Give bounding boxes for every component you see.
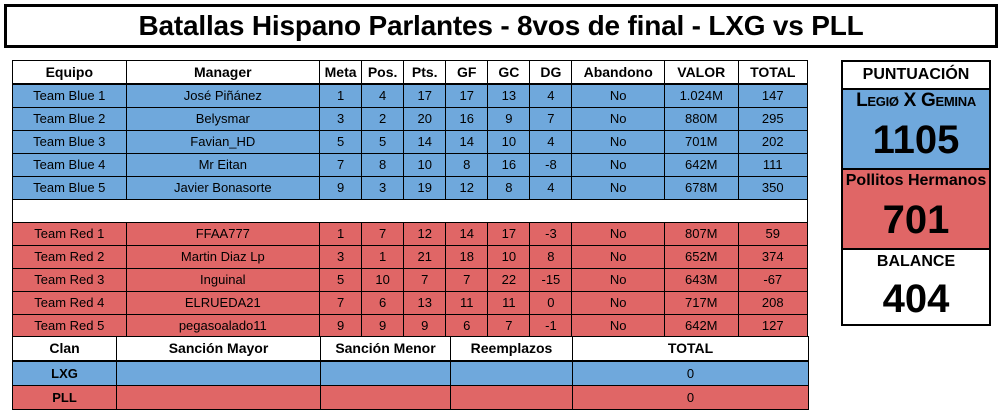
cell-meta: 1: [320, 223, 362, 246]
column-header-abandono: Abandono: [572, 61, 665, 85]
table-row: Team Blue 5 Javier Bonasorte 9 3 19 12 8…: [13, 177, 808, 200]
cell-gc: 8: [488, 177, 530, 200]
column-header-meta: Meta: [320, 61, 362, 85]
table-row: Team Blue 4 Mr Eitan 7 8 10 8 16 -8 No 6…: [13, 154, 808, 177]
column-header-pos: Pos.: [362, 61, 404, 85]
sanctions-grid: Clan Sanción Mayor Sanción Menor Reempla…: [12, 336, 809, 410]
cell-meta: 7: [320, 154, 362, 177]
clan-name-red: Pollitos Hermanos: [843, 170, 989, 192]
cell-abandono: No: [572, 177, 665, 200]
cell-pos: 7: [362, 223, 404, 246]
column-header-sancion-menor: Sanción Menor: [321, 337, 451, 362]
table-row: Team Red 1 FFAA777 1 7 12 14 17 -3 No 80…: [13, 223, 808, 246]
clan-score-red: 701: [843, 192, 989, 248]
cell-gf: 6: [446, 315, 488, 338]
cell-gf: 16: [446, 108, 488, 131]
cell-gf: 17: [446, 84, 488, 108]
cell-abandono: No: [572, 154, 665, 177]
sanctions-header-row: Clan Sanción Mayor Sanción Menor Reempla…: [13, 337, 809, 362]
cell-total: 0: [573, 361, 809, 386]
cell-total: 0: [573, 386, 809, 410]
score-block-blue: Legiø X Gemina 1105: [843, 90, 989, 170]
cell-total: 374: [738, 246, 807, 269]
team-section-separator: [13, 200, 808, 223]
cell-pts: 17: [404, 84, 446, 108]
score-block-balance: BALANCE 404: [843, 250, 989, 324]
cell-pos: 9: [362, 315, 404, 338]
cell-manager: pegasoalado11: [126, 315, 319, 338]
cell-gf: 7: [446, 269, 488, 292]
cell-pts: 10: [404, 154, 446, 177]
cell-valor: 643M: [664, 269, 738, 292]
cell-pts: 13: [404, 292, 446, 315]
cell-dg: 0: [530, 292, 572, 315]
cell-total: 208: [738, 292, 807, 315]
stats-grid: Equipo Manager Meta Pos. Pts. GF GC DG A…: [12, 60, 808, 338]
cell-total: 295: [738, 108, 807, 131]
cell-meta: 1: [320, 84, 362, 108]
cell-equipo: Team Red 5: [13, 315, 127, 338]
cell-dg: -8: [530, 154, 572, 177]
column-header-valor: VALOR: [664, 61, 738, 85]
cell-meta: 9: [320, 177, 362, 200]
cell-pos: 2: [362, 108, 404, 131]
clan-name-blue: Legiø X Gemina: [843, 90, 989, 112]
page-title: Batallas Hispano Parlantes - 8vos de fin…: [139, 10, 864, 42]
score-panel: PUNTUACIÓN Legiø X Gemina 1105 Pollitos …: [841, 60, 991, 326]
cell-sancion-menor: [321, 361, 451, 386]
cell-equipo: Team Blue 3: [13, 131, 127, 154]
column-header-clan: Clan: [13, 337, 117, 362]
cell-pos: 3: [362, 177, 404, 200]
cell-manager: Belysmar: [126, 108, 319, 131]
column-header-total: TOTAL: [738, 61, 807, 85]
cell-reemplazos: [451, 361, 573, 386]
cell-pos: 8: [362, 154, 404, 177]
clan-score-blue: 1105: [843, 112, 989, 168]
cell-meta: 3: [320, 246, 362, 269]
cell-sancion-mayor: [117, 361, 321, 386]
cell-gc: 16: [488, 154, 530, 177]
cell-gf: 12: [446, 177, 488, 200]
cell-equipo: Team Blue 1: [13, 84, 127, 108]
stats-header-row: Equipo Manager Meta Pos. Pts. GF GC DG A…: [13, 61, 808, 85]
cell-total: -67: [738, 269, 807, 292]
score-panel-heading: PUNTUACIÓN: [843, 62, 989, 90]
cell-total: 127: [738, 315, 807, 338]
cell-pts: 9: [404, 315, 446, 338]
cell-manager: FFAA777: [126, 223, 319, 246]
cell-gc: 11: [488, 292, 530, 315]
cell-equipo: Team Red 1: [13, 223, 127, 246]
cell-pts: 20: [404, 108, 446, 131]
cell-equipo: Team Red 4: [13, 292, 127, 315]
cell-total: 111: [738, 154, 807, 177]
cell-dg: -15: [530, 269, 572, 292]
cell-meta: 5: [320, 131, 362, 154]
cell-total: 59: [738, 223, 807, 246]
cell-equipo: Team Red 2: [13, 246, 127, 269]
cell-equipo: Team Blue 4: [13, 154, 127, 177]
column-header-sancion-mayor: Sanción Mayor: [117, 337, 321, 362]
cell-abandono: No: [572, 246, 665, 269]
cell-pos: 6: [362, 292, 404, 315]
cell-gc: 10: [488, 131, 530, 154]
cell-gc: 10: [488, 246, 530, 269]
cell-gf: 18: [446, 246, 488, 269]
title-bar: Batallas Hispano Parlantes - 8vos de fin…: [4, 4, 998, 48]
cell-pos: 5: [362, 131, 404, 154]
cell-valor: 701M: [664, 131, 738, 154]
cell-dg: 4: [530, 177, 572, 200]
cell-valor: 880M: [664, 108, 738, 131]
cell-abandono: No: [572, 292, 665, 315]
cell-total: 147: [738, 84, 807, 108]
cell-pos: 1: [362, 246, 404, 269]
column-header-reemplazos: Reemplazos: [451, 337, 573, 362]
cell-valor: 717M: [664, 292, 738, 315]
cell-gc: 17: [488, 223, 530, 246]
table-row: Team Red 2 Martin Diaz Lp 3 1 21 18 10 8…: [13, 246, 808, 269]
table-row: Team Red 4 ELRUEDA21 7 6 13 11 11 0 No 7…: [13, 292, 808, 315]
cell-pts: 7: [404, 269, 446, 292]
cell-manager: Javier Bonasorte: [126, 177, 319, 200]
cell-abandono: No: [572, 223, 665, 246]
table-row: Team Blue 1 José Piñánez 1 4 17 17 13 4 …: [13, 84, 808, 108]
cell-reemplazos: [451, 386, 573, 410]
cell-abandono: No: [572, 131, 665, 154]
cell-manager: Inguinal: [126, 269, 319, 292]
table-row: Team Blue 3 Favian_HD 5 5 14 14 10 4 No …: [13, 131, 808, 154]
cell-sancion-mayor: [117, 386, 321, 410]
balance-value: 404: [843, 274, 989, 324]
cell-pos: 10: [362, 269, 404, 292]
cell-sancion-menor: [321, 386, 451, 410]
cell-dg: 8: [530, 246, 572, 269]
cell-equipo: Team Blue 2: [13, 108, 127, 131]
score-block-red: Pollitos Hermanos 701: [843, 170, 989, 250]
table-row: Team Blue 2 Belysmar 3 2 20 16 9 7 No 88…: [13, 108, 808, 131]
column-header-gf: GF: [446, 61, 488, 85]
cell-dg: 7: [530, 108, 572, 131]
cell-manager: ELRUEDA21: [126, 292, 319, 315]
column-header-dg: DG: [530, 61, 572, 85]
cell-dg: 4: [530, 84, 572, 108]
table-row: PLL 0: [13, 386, 809, 410]
cell-total: 350: [738, 177, 807, 200]
cell-gf: 14: [446, 223, 488, 246]
column-header-pts: Pts.: [404, 61, 446, 85]
cell-valor: 807M: [664, 223, 738, 246]
cell-meta: 3: [320, 108, 362, 131]
cell-valor: 642M: [664, 154, 738, 177]
cell-clan: PLL: [13, 386, 117, 410]
balance-label: BALANCE: [843, 250, 989, 274]
cell-dg: -1: [530, 315, 572, 338]
cell-abandono: No: [572, 108, 665, 131]
cell-gf: 11: [446, 292, 488, 315]
cell-abandono: No: [572, 269, 665, 292]
sanctions-table: Clan Sanción Mayor Sanción Menor Reempla…: [12, 336, 808, 410]
cell-clan: LXG: [13, 361, 117, 386]
cell-gf: 8: [446, 154, 488, 177]
cell-total: 202: [738, 131, 807, 154]
cell-pos: 4: [362, 84, 404, 108]
cell-pts: 21: [404, 246, 446, 269]
column-header-manager: Manager: [126, 61, 319, 85]
cell-valor: 1.024M: [664, 84, 738, 108]
cell-equipo: Team Red 3: [13, 269, 127, 292]
cell-manager: Mr Eitan: [126, 154, 319, 177]
cell-abandono: No: [572, 84, 665, 108]
column-header-total: TOTAL: [573, 337, 809, 362]
cell-dg: 4: [530, 131, 572, 154]
cell-gc: 22: [488, 269, 530, 292]
column-header-gc: GC: [488, 61, 530, 85]
cell-gc: 7: [488, 315, 530, 338]
cell-valor: 678M: [664, 177, 738, 200]
cell-meta: 9: [320, 315, 362, 338]
cell-valor: 652M: [664, 246, 738, 269]
cell-meta: 5: [320, 269, 362, 292]
cell-meta: 7: [320, 292, 362, 315]
cell-manager: José Piñánez: [126, 84, 319, 108]
cell-abandono: No: [572, 315, 665, 338]
cell-dg: -3: [530, 223, 572, 246]
cell-pts: 12: [404, 223, 446, 246]
table-row: Team Red 5 pegasoalado11 9 9 9 6 7 -1 No…: [13, 315, 808, 338]
cell-gf: 14: [446, 131, 488, 154]
table-row: LXG 0: [13, 361, 809, 386]
cell-equipo: Team Blue 5: [13, 177, 127, 200]
table-row: Team Red 3 Inguinal 5 10 7 7 22 -15 No 6…: [13, 269, 808, 292]
cell-gc: 13: [488, 84, 530, 108]
main-stats-table: Equipo Manager Meta Pos. Pts. GF GC DG A…: [12, 60, 808, 338]
cell-manager: Favian_HD: [126, 131, 319, 154]
column-header-equipo: Equipo: [13, 61, 127, 85]
cell-valor: 642M: [664, 315, 738, 338]
cell-manager: Martin Diaz Lp: [126, 246, 319, 269]
cell-pts: 19: [404, 177, 446, 200]
cell-gc: 9: [488, 108, 530, 131]
cell-pts: 14: [404, 131, 446, 154]
